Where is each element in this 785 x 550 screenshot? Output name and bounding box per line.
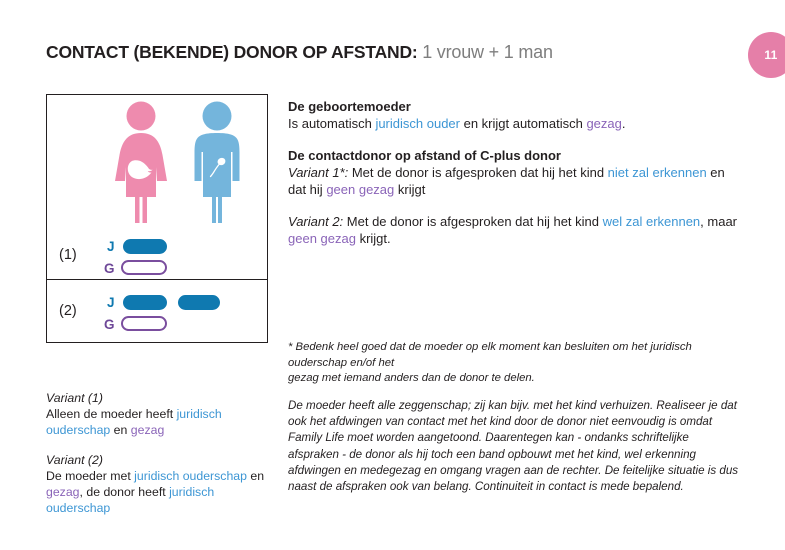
- page-title: CONTACT (BEKENDE) DONOR OP AFSTAND: 1 vr…: [46, 42, 553, 63]
- spacer-1: [288, 133, 738, 147]
- page-number-badge: 11: [748, 32, 785, 78]
- variant-1-text-c: krijgt: [394, 182, 425, 197]
- variant-1-text-a: Met de donor is afgesproken dat hij het …: [348, 165, 607, 180]
- variant-1-paragraph: Variant 1*: Met de donor is afgesproken …: [288, 164, 738, 199]
- variant-caption-2-text-b: en: [247, 469, 264, 483]
- page-title-main: CONTACT (BEKENDE) DONOR OP AFSTAND:: [46, 42, 418, 62]
- variant-2-text-c: krijgt.: [356, 231, 391, 246]
- birth-mother-link-juridisch-ouder: juridisch ouder: [375, 116, 460, 131]
- diagram-row-2-label: (2): [59, 303, 77, 319]
- birth-mother-text-a: Is automatisch: [288, 116, 375, 131]
- pregnant-woman-icon: [109, 101, 173, 227]
- variant-caption-2-title: Variant (2): [46, 452, 274, 468]
- diagram-row-2-j-bar-1: [123, 295, 167, 310]
- variant-caption-2-link-gezag: gezag: [46, 485, 80, 499]
- variant-caption-1-body: Alleen de moeder heeft juridisch oudersc…: [46, 406, 274, 438]
- diagram-row-1-label: (1): [59, 247, 77, 263]
- variant-2-link-wel-zal-erkennen: wel zal erkennen: [603, 214, 701, 229]
- variant-caption-1: Variant (1) Alleen de moeder heeft jurid…: [46, 390, 274, 439]
- diagram-row-2-g-letter: G: [104, 317, 115, 332]
- footnote-text: * Bedenk heel goed dat de moeder op elk …: [288, 340, 728, 387]
- explanatory-note-text: De moeder heeft alle zeggenschap; zij ka…: [288, 398, 740, 495]
- diagram-row-1-g-letter: G: [104, 261, 115, 276]
- variant-caption-1-link-gezag: gezag: [131, 423, 165, 437]
- diagram-row-1-j-bar-1: [123, 239, 167, 254]
- variant-caption-1-text-b: en: [110, 423, 131, 437]
- variant-caption-2-link-ouderschap: juridisch ouderschap: [134, 469, 247, 483]
- diagram-row-1: (1) J G: [47, 231, 267, 293]
- diagram-row-2-j-bar-2: [178, 295, 220, 310]
- diagram-row-1-j-letter: J: [107, 239, 115, 254]
- page-title-sub: 1 vrouw + 1 man: [422, 42, 553, 62]
- variant-1-link-geen-gezag: geen gezag: [326, 182, 394, 197]
- variant-caption-2-body: De moeder met juridisch ouderschap en ge…: [46, 468, 274, 517]
- page-number-text: 11: [764, 48, 777, 62]
- man-with-sperm-icon: [185, 101, 249, 227]
- birth-mother-text-c: .: [622, 116, 626, 131]
- birth-mother-paragraph: Is automatisch juridisch ouder en krijgt…: [288, 115, 738, 133]
- people-icons-group: [47, 101, 267, 229]
- explanation-column: De geboortemoeder Is automatisch juridis…: [288, 98, 738, 248]
- variant-captions: Variant (1) Alleen de moeder heeft jurid…: [46, 390, 274, 529]
- diagram-row-2-j-letter: J: [107, 295, 115, 310]
- variant-caption-2-text-a: De moeder met: [46, 469, 134, 483]
- variant-2-text-a: Met de donor is afgesproken dat hij het …: [343, 214, 602, 229]
- variant-1-label: Variant 1*:: [288, 165, 348, 180]
- variant-1-link-niet-zal-erkennen: niet zal erkennen: [608, 165, 707, 180]
- diagram-row-2-g-bar-1: [121, 316, 167, 331]
- variant-caption-1-text-a: Alleen de moeder heeft: [46, 407, 177, 421]
- diagram-row-2: (2) J G: [47, 287, 267, 349]
- diagram-box: (1) J G (2) J G: [46, 94, 268, 343]
- spacer-2: [288, 199, 738, 213]
- birth-mother-heading: De geboortemoeder: [288, 98, 738, 115]
- variant-caption-1-title: Variant (1): [46, 390, 274, 406]
- variant-caption-2-text-c: , de donor heeft: [80, 485, 170, 499]
- birth-mother-text-b: en krijgt automatisch: [460, 116, 586, 131]
- diagram-row-1-g-bar-1: [121, 260, 167, 275]
- variant-caption-2: Variant (2) De moeder met juridisch oude…: [46, 452, 274, 517]
- variant-2-paragraph: Variant 2: Met de donor is afgesproken d…: [288, 213, 738, 248]
- variant-2-text-b: , maar: [700, 214, 737, 229]
- contact-donor-heading: De contactdonor op afstand of C-plus don…: [288, 147, 738, 164]
- birth-mother-link-gezag: gezag: [586, 116, 621, 131]
- variant-2-label: Variant 2:: [288, 214, 343, 229]
- variant-2-link-geen-gezag: geen gezag: [288, 231, 356, 246]
